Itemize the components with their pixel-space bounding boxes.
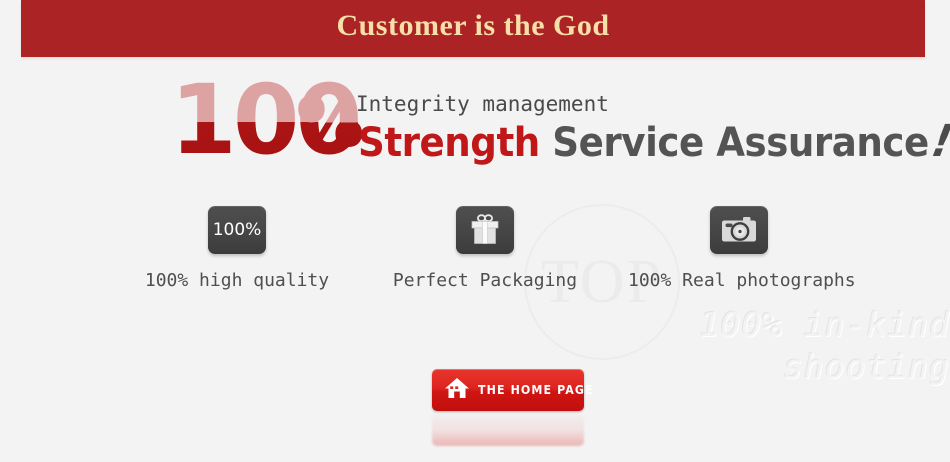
percent-badge-icon-label: 100% [213,206,262,254]
tagline-watermark: 100% in-kind shooting [660,304,950,388]
feature-item-packaging: Perfect Packaging [390,206,580,291]
camera-icon-glyph [720,216,758,244]
page-title: Customer is the God [21,9,925,43]
hero-percent-symbol: % [296,90,364,158]
feature-caption-photographs: 100% Real photographs [628,270,850,291]
home-page-button-label: THE HOME PAGE [478,383,594,397]
feature-item-photographs: 100% Real photographs [628,206,850,291]
subhead-exclamation: ! [928,119,950,165]
home-button-reflection [432,412,584,446]
camera-icon [710,206,768,254]
subhead-word-service-assurance: Service Assurance [552,120,928,166]
feature-caption-quality: 100% high quality [142,270,332,291]
percent-badge-icon: 100% [208,206,266,254]
feature-item-quality: 100% 100% high quality [142,206,332,291]
tagline-watermark-line2: shooting [660,346,950,388]
headline-block: 100 % Integrity management Strength Serv… [0,76,950,186]
gift-box-icon-glyph [470,214,500,246]
promo-banner-page: Customer is the God 100 % Integrity mana… [0,0,950,462]
home-page-button[interactable]: THE HOME PAGE [432,369,584,411]
headline-subhead: Strength Service Assurance! [358,119,950,166]
header-banner: Customer is the God [21,0,925,57]
feature-caption-packaging: Perfect Packaging [390,270,580,291]
house-icon-glyph [444,376,470,400]
gift-box-icon [456,206,514,254]
house-icon [444,376,470,405]
subhead-word-strength: Strength [358,120,540,166]
headline-kicker: Integrity management [356,92,609,116]
feature-row: 100% 100% high quality [0,206,950,316]
